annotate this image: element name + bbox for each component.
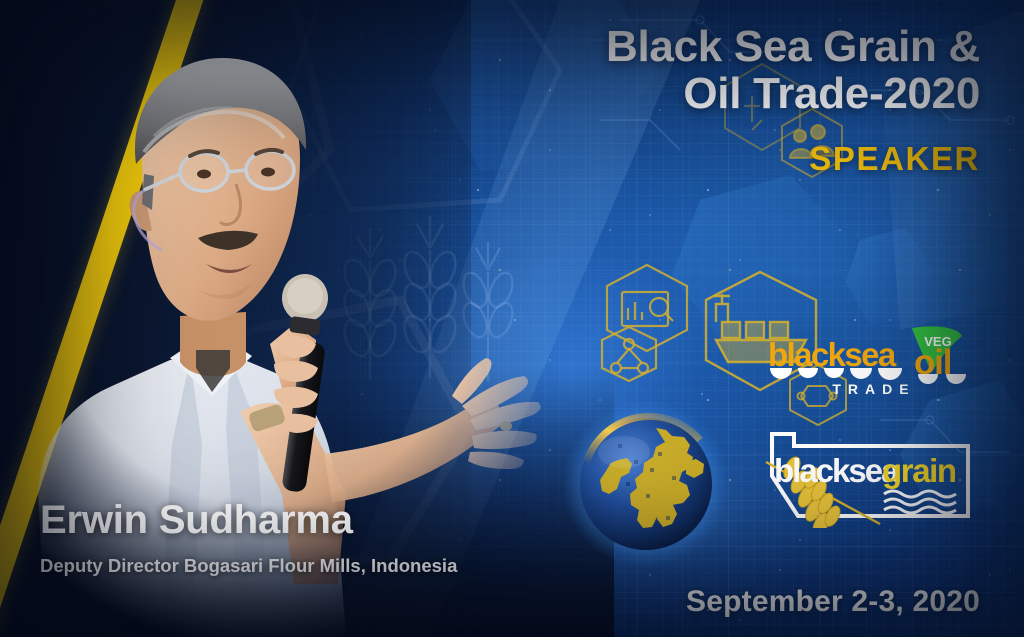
logo-blackseagrain[interactable]: blacksea grain bbox=[752, 424, 988, 528]
logo-blackseaoil-trade[interactable]: VEG blacksea oil TRADE bbox=[762, 322, 988, 400]
globe-graphic bbox=[560, 398, 732, 570]
speaker-role: Deputy Director Bogasari Flour Mills, In… bbox=[40, 552, 460, 581]
speaker-name: Erwin Sudharma bbox=[40, 498, 353, 543]
ring bbox=[500, 421, 512, 431]
event-title-line1: Black Sea Grain & bbox=[606, 22, 980, 71]
speaker-badge: SPEAKER bbox=[340, 140, 980, 178]
promo-banner: Black Sea Grain & Oil Trade-2020 SPEAKER… bbox=[0, 0, 1024, 637]
logo-waves bbox=[884, 491, 956, 513]
logo-word-grain: grain bbox=[882, 452, 956, 489]
event-date: September 2-3, 2020 bbox=[340, 585, 980, 619]
logo-word-blacksea: blacksea bbox=[768, 336, 897, 373]
logo-subtitle-trade: TRADE bbox=[832, 381, 915, 397]
event-title-line2: Oil Trade-2020 bbox=[340, 71, 980, 118]
event-title: Black Sea Grain & Oil Trade-2020 bbox=[340, 24, 980, 117]
